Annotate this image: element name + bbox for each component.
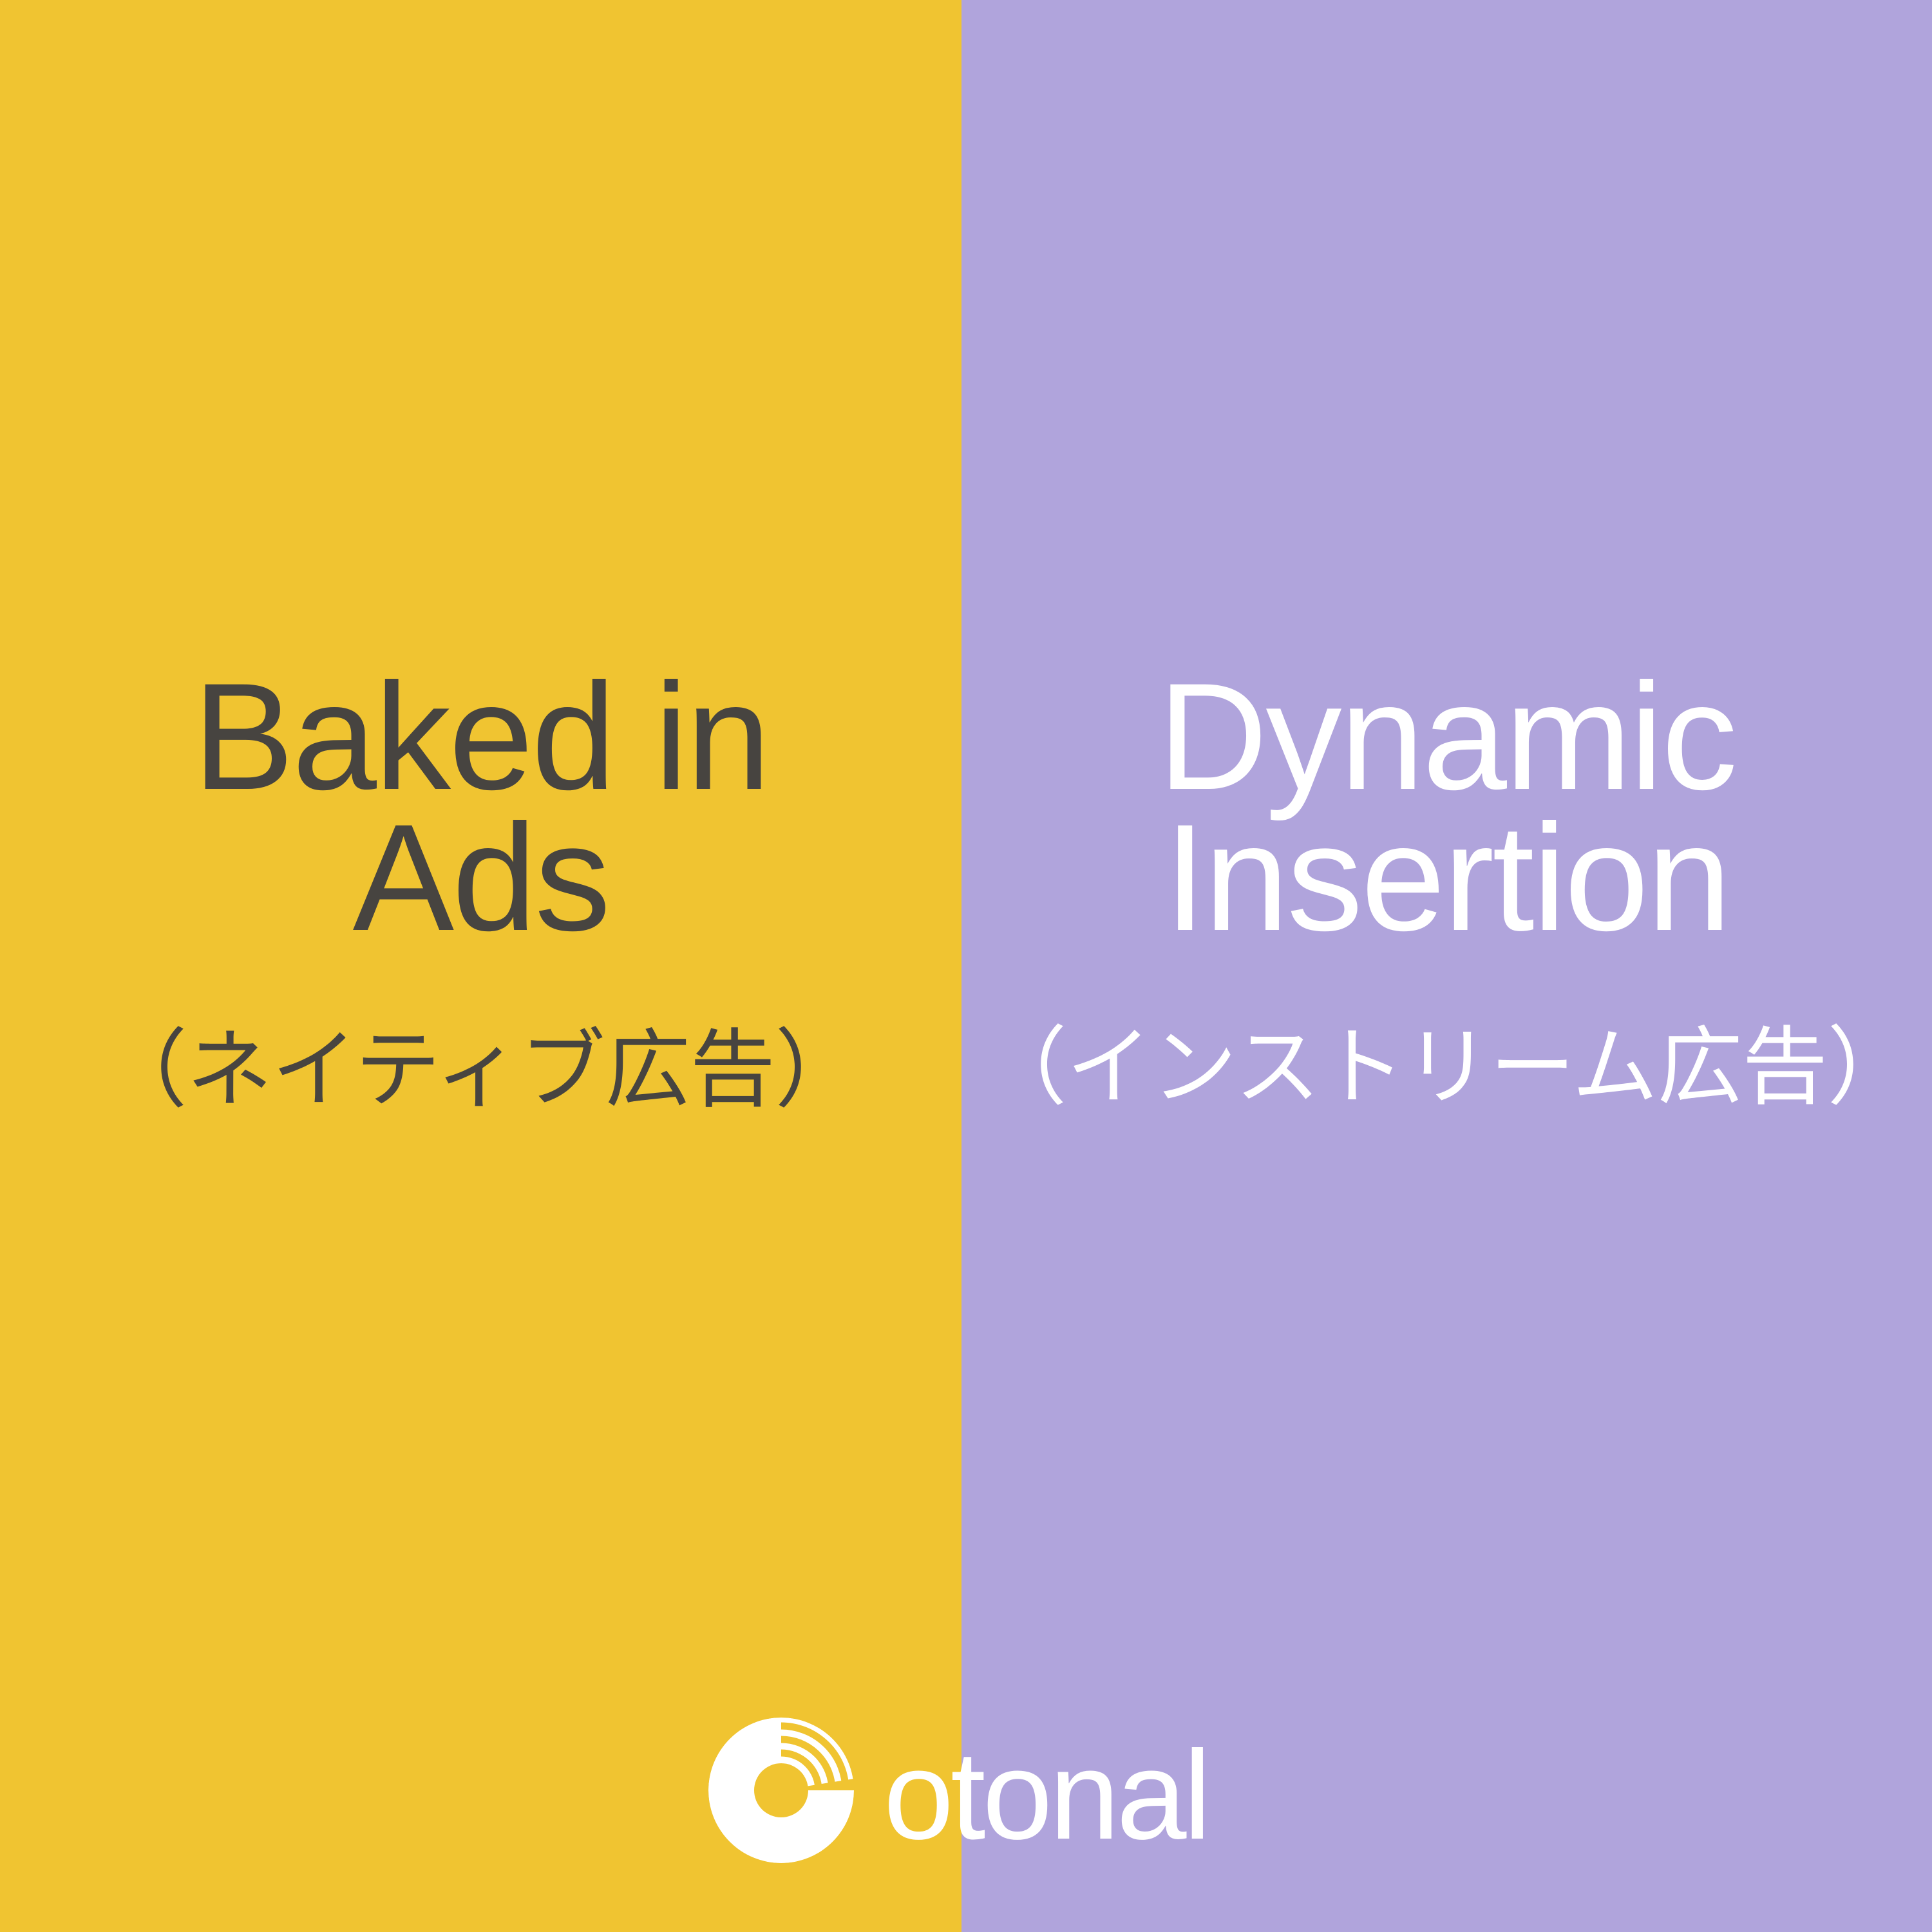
right-subtitle: （インストリーム広告） [981,1025,1912,1111]
right-content-column: Dynamic Insertion （インストリーム広告） [961,0,1932,1932]
otonal-logo-lockup: otonal [708,1716,1249,1864]
otonal-wordmark: otonal [884,1732,1208,1859]
cover-art-canvas: Baked in Ads （ネイティブ広告） Dynamic Insertion… [0,0,1932,1932]
vinyl-record-icon [708,1718,854,1863]
right-headline: Dynamic Insertion [1158,667,1736,949]
left-headline: Baked in Ads [193,667,768,949]
left-subtitle: （ネイティブ広告） [102,1028,860,1113]
left-content-column: Baked in Ads （ネイティブ広告） [0,0,961,1932]
